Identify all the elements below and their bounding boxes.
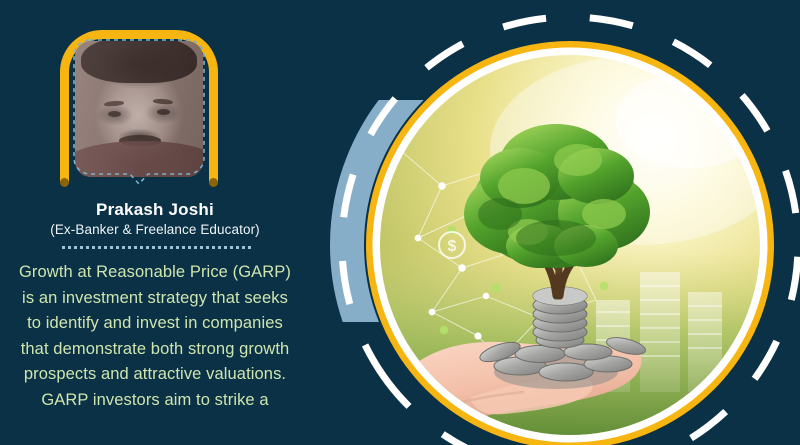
frame-dot-left-icon <box>60 178 69 187</box>
portrait-dashed-bubble <box>72 38 206 186</box>
photo-circle: $ <box>380 55 790 440</box>
speaker-panel: Prakash Joshi (Ex-Banker & Freelance Edu… <box>0 0 310 445</box>
dotted-divider <box>62 246 252 249</box>
speaker-name: Prakash Joshi <box>0 200 310 220</box>
frame-dot-right-icon <box>209 178 218 187</box>
quote-text: Growth at Reasonable Price (GARP) is an … <box>14 260 296 413</box>
dollar-symbol: $ <box>448 238 457 255</box>
speaker-role: (Ex-Banker & Freelance Educator) <box>0 222 310 237</box>
portrait-block <box>72 38 206 186</box>
poster-canvas: $ <box>0 0 800 445</box>
